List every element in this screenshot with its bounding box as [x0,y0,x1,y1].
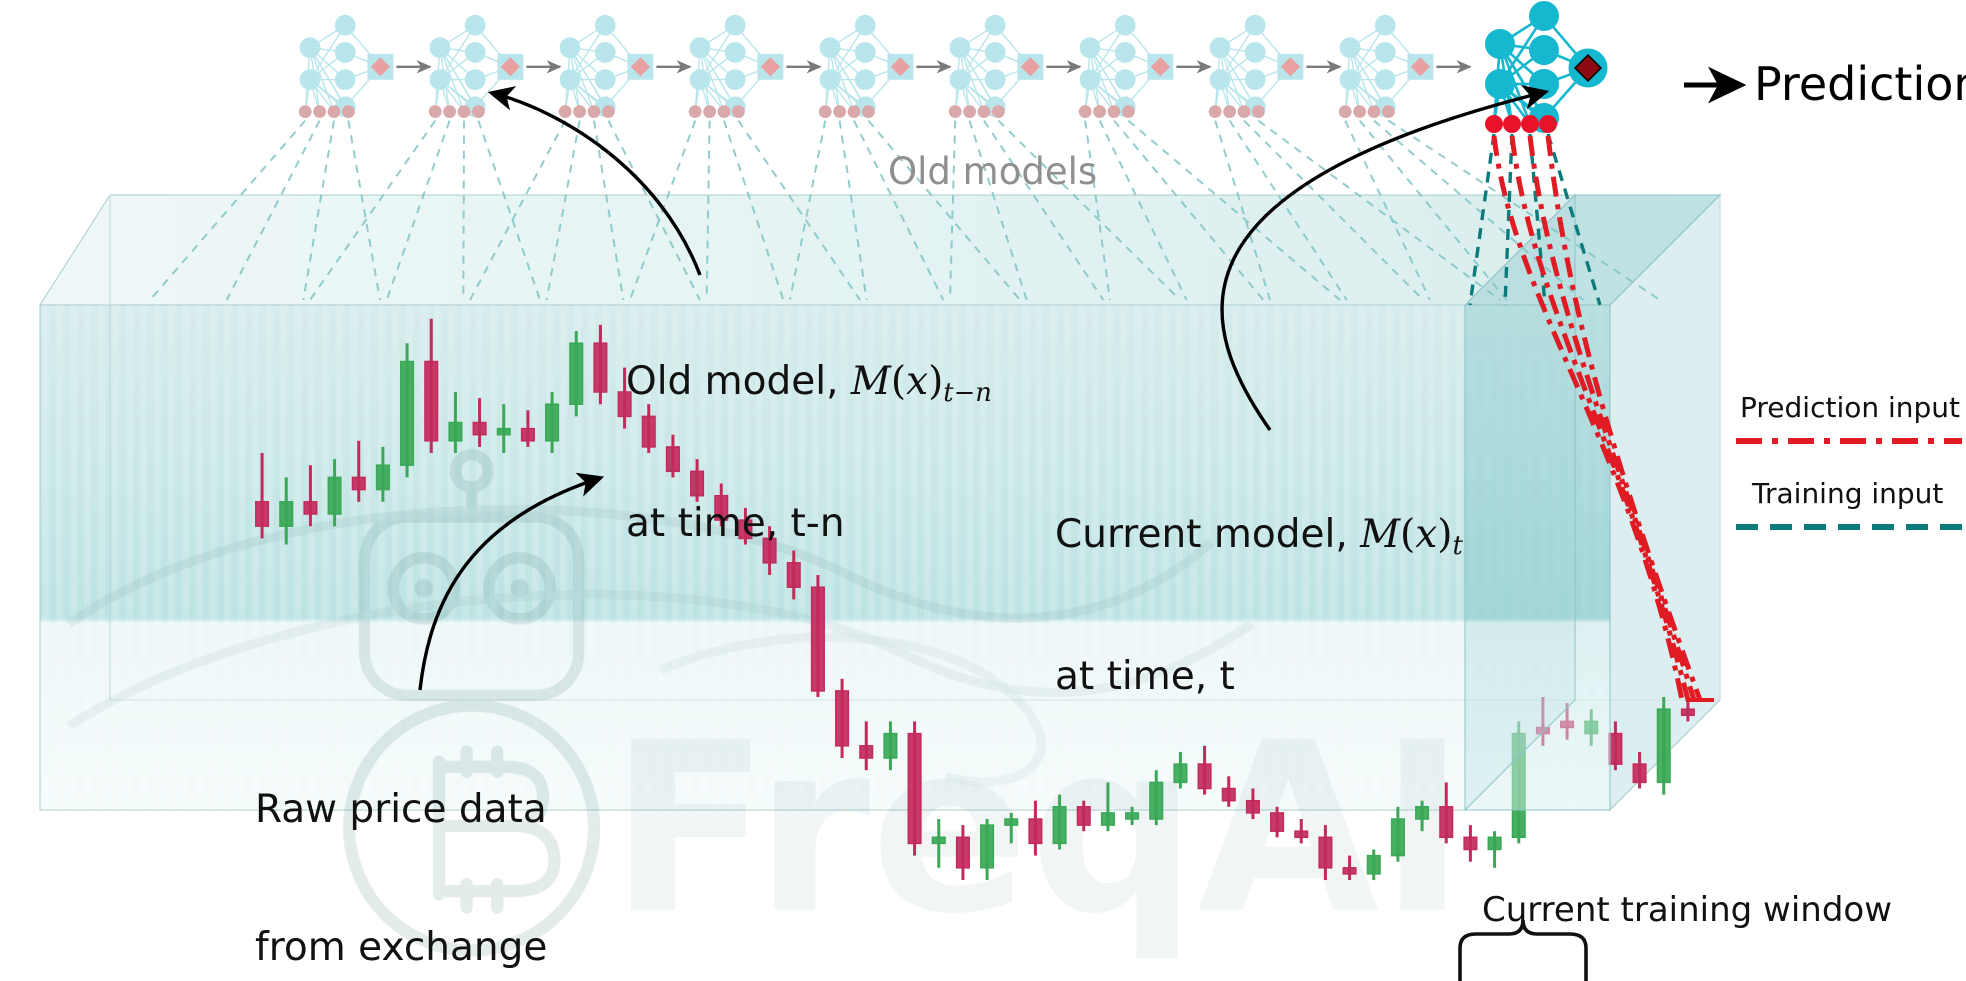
legend-label-prediction-input: Prediction input [1740,391,1960,424]
legend-label-training-input: Training input [1752,477,1943,510]
network-node [950,37,971,58]
candle-body [1392,819,1405,856]
candle-body [1488,837,1501,849]
network-input-node [458,105,471,118]
candle-body [932,837,945,843]
network-node [1375,69,1396,90]
network-input-node [1223,105,1236,118]
candle-body [1053,807,1066,844]
network-input-node [1252,105,1265,118]
network-input-node [313,105,326,118]
network-node [1529,35,1559,65]
old-model-math-sub: t−n [943,378,991,408]
network-node [950,69,971,90]
network-node [725,15,746,36]
network-input-node [862,105,875,118]
network-node [1245,15,1266,36]
candle-body [1319,837,1332,868]
candle-body [1077,807,1090,825]
candle-body [1440,807,1453,838]
network-node [595,15,616,36]
network-input-node [949,105,962,118]
candle-body [328,477,341,514]
candle-body [1126,813,1139,819]
candle-body [1029,819,1042,843]
current-model-math-sub: t [1452,531,1462,561]
network-node [1210,69,1231,90]
network-input-node [429,105,442,118]
network-input-node [1339,105,1352,118]
network-input-node [848,105,861,118]
raw-price-annotation-line2: from exchange [255,925,547,971]
network-node [1115,69,1136,90]
candle-body [377,465,390,489]
network-input-node [573,105,586,118]
network-input-node [963,105,976,118]
candle-body [594,343,607,392]
model-networks [299,1,1608,133]
network-node [1375,15,1396,36]
network-node [985,42,1006,63]
network-node [465,15,486,36]
current-model-annotation: Current model, M(x)t at time, t [1055,420,1463,792]
network-node [1529,1,1559,31]
candle-body [304,502,317,514]
candle-body [401,362,414,466]
network-node [1245,42,1266,63]
candle-body [522,429,535,441]
candle-body [546,404,559,441]
candle-body [280,502,293,526]
network-node [1115,15,1136,36]
network-input-node [1485,115,1503,133]
network-input-node [1503,115,1521,133]
old-model-math-x: ( [891,359,906,404]
old-model-prefix: Old model, [626,359,851,404]
candle-body [1609,734,1622,765]
network-node [985,15,1006,36]
candle-body [1633,764,1646,782]
old-model-annotation-line1: Old model, M(x)t−n [626,359,992,409]
candle-body [1343,868,1356,874]
network-node [595,42,616,63]
network-node [855,69,876,90]
network-input-node [588,105,601,118]
network-input-node [1093,105,1106,118]
network-node [820,37,841,58]
network-node [1080,69,1101,90]
network-input-node [978,105,991,118]
network-input-node [1382,105,1395,118]
candle-body [1464,837,1477,849]
candle-body [1247,801,1260,813]
network-node [725,42,746,63]
current-model-annotation-line1: Current model, M(x)t [1055,512,1463,562]
old-model-math-paren: ) [928,359,943,404]
network-input-node [342,105,355,118]
network-node [1340,37,1361,58]
network-input-node [689,105,702,118]
old-model-annotation-line2: at time, t-n [626,501,992,547]
candle-body [908,734,921,844]
network-input-node [299,105,312,118]
old-model-math-xvar: x [906,359,928,404]
network-node [335,69,356,90]
candle-body [1271,813,1284,831]
network-node [430,69,451,90]
network-node [820,69,841,90]
network-input-node [1539,115,1557,133]
network-node [595,69,616,90]
old-model-math-m: M [851,359,891,404]
network-input-node [328,105,341,118]
current-model-math-m: M [1360,512,1400,557]
current-model-annotation-line2: at time, t [1055,654,1463,700]
network-node [430,37,451,58]
candle-body [570,343,583,404]
candle-body [836,691,849,746]
network-node [1080,37,1101,58]
network-node [335,42,356,63]
network-input-node [1353,105,1366,118]
network-input-node [443,105,456,118]
candle-body [425,362,438,441]
network-input-node [1521,115,1539,133]
network-input-node [1122,105,1135,118]
current-model-prefix: Current model, [1055,512,1360,557]
network-node [855,42,876,63]
network-node [985,69,1006,90]
candle-body [1102,813,1115,825]
old-model-annotation: Old model, M(x)t−n at time, t-n [626,267,992,639]
raw-price-annotation: Raw price data from exchange [255,695,547,981]
candle-body [1295,831,1308,837]
network-input-node [1368,105,1381,118]
network-node [560,69,581,90]
network-node [1115,42,1136,63]
candle-body [352,477,365,489]
network-input-node [732,105,745,118]
candle-body [1416,807,1429,819]
network-node [1485,69,1515,99]
network-node [465,42,486,63]
old-models-label: Old models [888,150,1097,193]
current-model-math-paren: ) [1437,512,1452,557]
network-input-node [992,105,1005,118]
network-input-node [559,105,572,118]
candle-body [473,423,486,435]
network-node [1210,37,1231,58]
network-input-node [1079,105,1092,118]
network-input-node [819,105,832,118]
network-input-node [602,105,615,118]
candle-body [981,825,994,868]
network-input-node [1209,105,1222,118]
candle-body [1367,856,1380,874]
raw-price-annotation-line1: Raw price data [255,787,547,833]
candle-body [1005,819,1018,825]
network-node [335,15,356,36]
current-model-math-xvar: x [1415,512,1437,557]
network-node [690,69,711,90]
network-node [690,37,711,58]
network-input-node [472,105,485,118]
candle-body [449,423,462,441]
network-node [725,69,746,90]
network-node [560,37,581,58]
current-training-window-label: Current training window [1482,890,1892,930]
candle-body [256,502,269,526]
candle-body [1682,709,1695,715]
network-node [300,69,321,90]
prediction-label: Prediction [1754,57,1966,111]
candle-body [860,746,873,758]
network-node [855,15,876,36]
network-node [1375,42,1396,63]
network-node [1340,69,1361,90]
network-node [1485,29,1515,59]
network-input-node [703,105,716,118]
candle-body [884,734,897,758]
network-node [300,37,321,58]
network-input-node [718,105,731,118]
network-node [465,69,486,90]
candle-body [957,837,970,868]
figure-canvas: FreqAI [0,0,1966,981]
network-input-node [1238,105,1251,118]
network-node [1245,69,1266,90]
candle-body [497,429,510,435]
current-model-math-x: ( [1400,512,1415,557]
candle-body [1657,709,1670,782]
network-input-node [1108,105,1121,118]
network-input-node [833,105,846,118]
